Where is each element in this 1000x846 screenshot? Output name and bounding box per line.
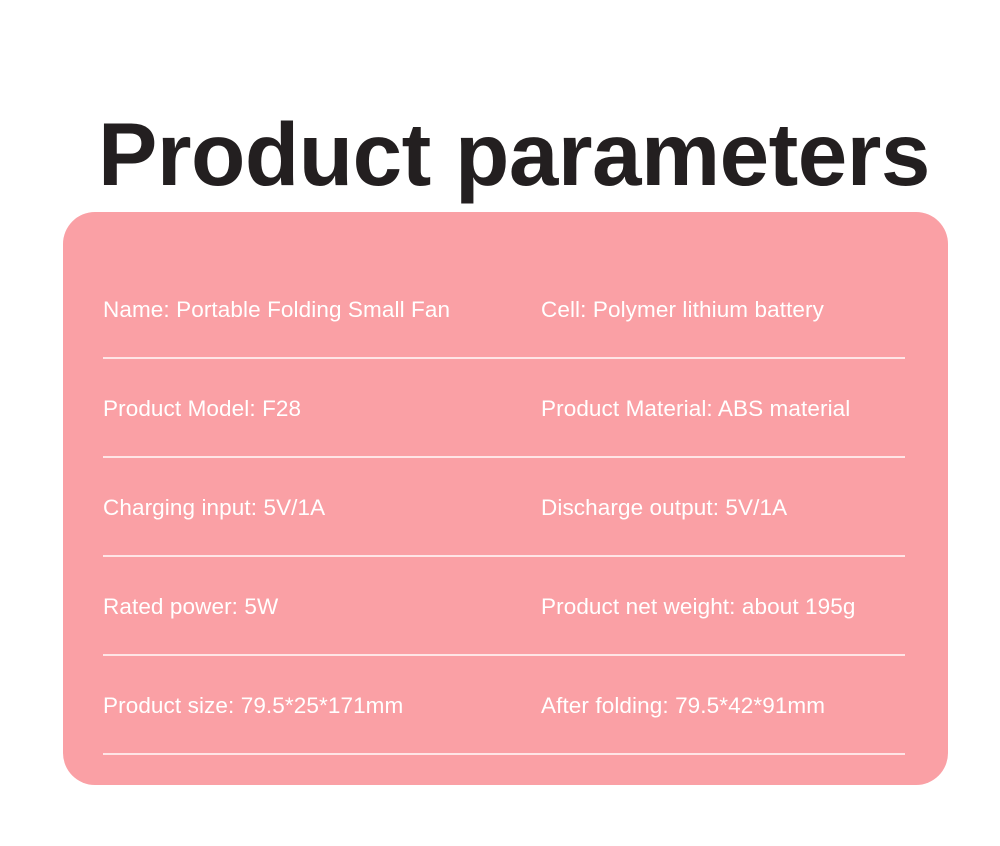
page-title: Product parameters	[98, 106, 938, 202]
spec-item-name: Name: Portable Folding Small Fan	[103, 295, 541, 325]
product-parameters-page: Product parameters Name: Portable Foldin…	[0, 0, 1000, 846]
table-row: Product size: 79.5*25*171mm After foldin…	[103, 656, 905, 755]
row-divider	[103, 753, 905, 755]
table-row: Name: Portable Folding Small Fan Cell: P…	[103, 260, 905, 359]
table-row: Charging input: 5V/1A Discharge output: …	[103, 458, 905, 557]
spec-item-charging-input: Charging input: 5V/1A	[103, 493, 541, 523]
spec-item-product-material: Product Material: ABS material	[541, 394, 905, 424]
table-row: Rated power: 5W Product net weight: abou…	[103, 557, 905, 656]
specifications-table: Name: Portable Folding Small Fan Cell: P…	[103, 260, 905, 755]
spec-item-discharge-output: Discharge output: 5V/1A	[541, 493, 905, 523]
spec-item-after-folding: After folding: 79.5*42*91mm	[541, 691, 905, 721]
table-row: Product Model: F28 Product Material: ABS…	[103, 359, 905, 458]
spec-item-net-weight: Product net weight: about 195g	[541, 592, 905, 622]
specifications-card: Name: Portable Folding Small Fan Cell: P…	[63, 212, 948, 785]
spec-item-cell: Cell: Polymer lithium battery	[541, 295, 905, 325]
spec-item-rated-power: Rated power: 5W	[103, 592, 541, 622]
spec-item-product-size: Product size: 79.5*25*171mm	[103, 691, 541, 721]
spec-item-product-model: Product Model: F28	[103, 394, 541, 424]
